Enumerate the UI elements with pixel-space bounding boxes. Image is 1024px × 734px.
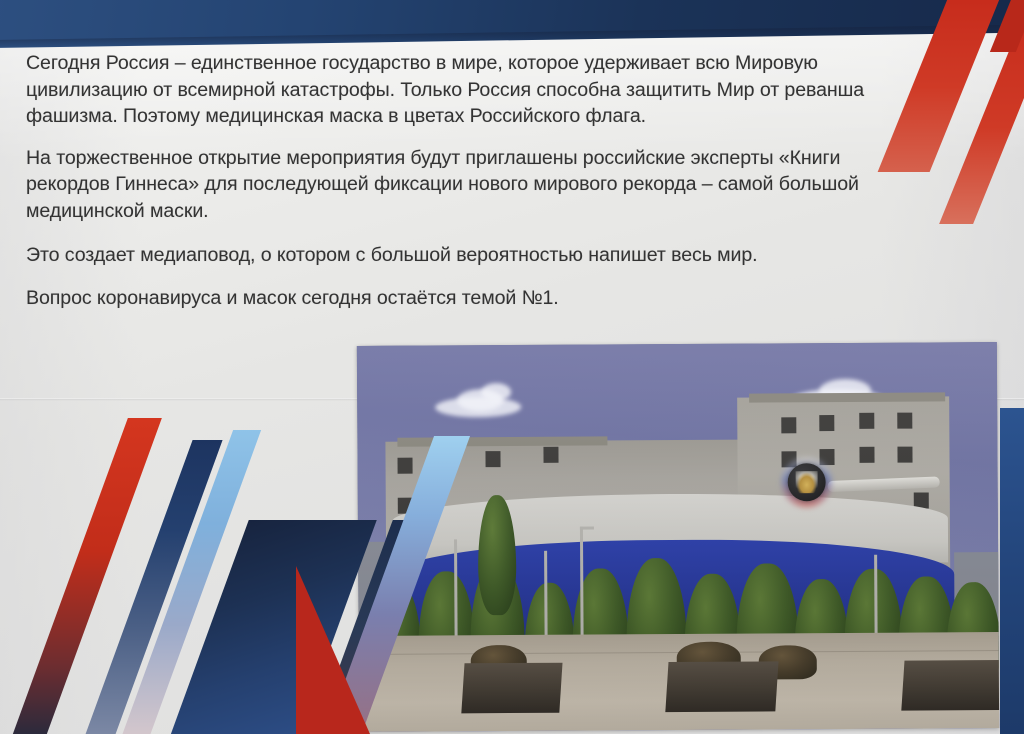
slide-text-block: Сегодня Россия – единственное государств… [26, 50, 906, 312]
double-headed-eagle-icon [788, 463, 826, 501]
building-window [819, 415, 834, 431]
building-window [859, 413, 874, 429]
building-window [897, 413, 912, 429]
building-window [859, 447, 874, 463]
building-window [398, 458, 413, 474]
slide-photograph [357, 342, 999, 732]
concrete-planter [461, 663, 562, 714]
paragraph-1: Сегодня Россия – единственное государств… [26, 50, 906, 130]
paragraph-3: Это создает медиаповод, о котором с боль… [26, 242, 906, 269]
building-window [485, 451, 500, 467]
right-blue-band [1000, 408, 1024, 734]
decor-red-wedge [296, 566, 370, 734]
presentation-slide: Сегодня Россия – единственное государств… [0, 0, 1024, 734]
concrete-planter [665, 661, 778, 712]
building-window [781, 417, 796, 433]
paragraph-2: На торжественное открытие мероприятия бу… [26, 145, 906, 225]
concrete-planter [901, 660, 999, 711]
building-window [897, 447, 912, 463]
street-lamp-arm [580, 527, 594, 530]
paragraph-4: Вопрос коронавируса и масок сегодня оста… [26, 285, 906, 312]
building-roof-edge [397, 436, 607, 446]
building-roof-edge [749, 392, 945, 402]
building-window [543, 447, 558, 463]
cloud [481, 383, 511, 401]
